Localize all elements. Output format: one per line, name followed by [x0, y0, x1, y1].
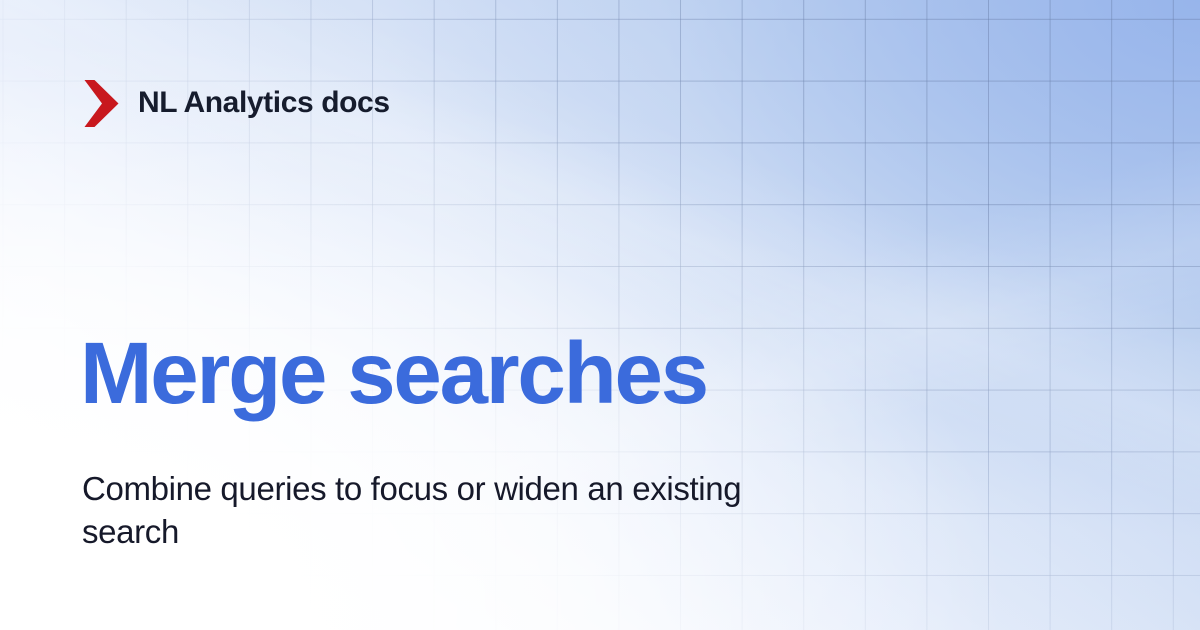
page-subtitle: Combine queries to focus or widen an exi…: [82, 468, 762, 554]
card-content: NL Analytics docs Merge searches Combine…: [0, 0, 1200, 630]
og-card: NL Analytics docs Merge searches Combine…: [0, 0, 1200, 630]
brand-name-label: NL Analytics docs: [138, 88, 390, 118]
chevron-right-icon: [84, 80, 119, 127]
brand-lockup[interactable]: NL Analytics docs: [84, 74, 390, 132]
page-title: Merge searches: [80, 330, 707, 417]
